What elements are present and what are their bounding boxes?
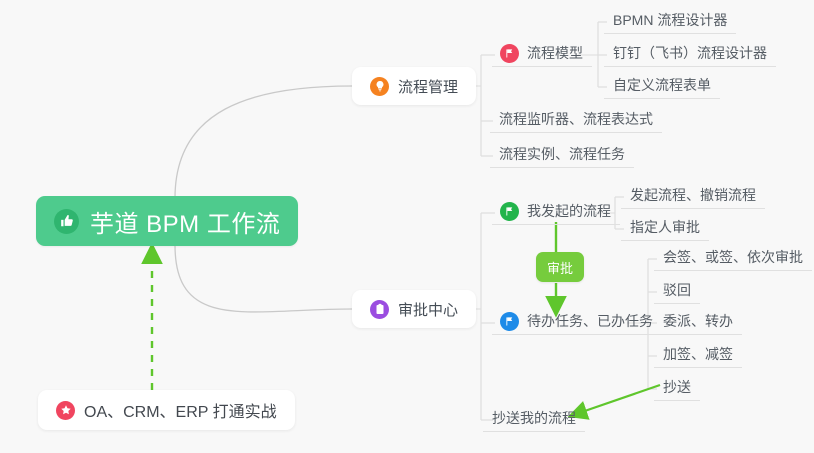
annotation-approval-chip: 审批: [536, 252, 584, 282]
root-node[interactable]: 芋道 BPM 工作流: [36, 196, 298, 246]
thumbs-up-icon: [54, 209, 79, 234]
leaf-label: 抄送: [663, 377, 691, 397]
leaf-label: 流程实例、流程任务: [499, 144, 625, 164]
footnote-node[interactable]: OA、CRM、ERP 打通实战: [38, 390, 295, 430]
leaf-label: 自定义流程表单: [613, 75, 711, 95]
leaf-start-cancel-process[interactable]: 发起流程、撤销流程: [621, 180, 765, 209]
node-my-started-process[interactable]: 我发起的流程: [492, 196, 620, 225]
branch-label: 流程管理: [398, 76, 458, 97]
leaf-label: 流程监听器、流程表达式: [499, 109, 653, 129]
leaf-label: 钉钉（飞书）流程设计器: [613, 43, 767, 63]
flag-icon: [500, 202, 519, 221]
node-process-model[interactable]: 流程模型: [492, 38, 592, 67]
leaf-label: 驳回: [663, 280, 691, 300]
star-icon: [56, 401, 75, 420]
node-label: 流程模型: [527, 43, 583, 63]
leaf-countersign[interactable]: 会签、或签、依次审批: [654, 242, 812, 271]
leaf-label: 发起流程、撤销流程: [630, 185, 756, 205]
leaf-label: BPMN 流程设计器: [613, 10, 727, 30]
branch-approval-center[interactable]: 审批中心: [352, 290, 476, 328]
node-label: 我发起的流程: [527, 201, 611, 221]
leaf-cc[interactable]: 抄送: [654, 372, 700, 401]
chip-label: 审批: [547, 258, 573, 277]
leaf-bpmn-designer[interactable]: BPMN 流程设计器: [604, 5, 736, 34]
footnote-label: OA、CRM、ERP 打通实战: [84, 398, 277, 422]
leaf-listener-expression[interactable]: 流程监听器、流程表达式: [490, 104, 662, 133]
leaf-label: 委派、转办: [663, 311, 733, 331]
leaf-delegate-transfer[interactable]: 委派、转办: [654, 306, 742, 335]
root-label: 芋道 BPM 工作流: [90, 204, 280, 239]
leaf-add-remove-sign[interactable]: 加签、减签: [654, 339, 742, 368]
clipboard-icon: [370, 300, 389, 319]
leaf-dingtalk-designer[interactable]: 钉钉（飞书）流程设计器: [604, 38, 776, 67]
leaf-label: 抄送我的流程: [492, 408, 576, 428]
leaf-cc-to-me[interactable]: 抄送我的流程: [483, 403, 585, 432]
leaf-assignee-approval[interactable]: 指定人审批: [621, 212, 709, 241]
flag-icon: [500, 312, 519, 331]
branch-label: 审批中心: [398, 299, 458, 320]
leaf-instance-task[interactable]: 流程实例、流程任务: [490, 139, 634, 168]
leaf-label: 会签、或签、依次审批: [663, 247, 803, 267]
leaf-label: 加签、减签: [663, 344, 733, 364]
flag-icon: [500, 44, 519, 63]
leaf-label: 指定人审批: [630, 217, 700, 237]
node-label: 待办任务、已办任务: [527, 311, 653, 331]
leaf-custom-form[interactable]: 自定义流程表单: [604, 70, 720, 99]
leaf-reject[interactable]: 驳回: [654, 275, 700, 304]
lightbulb-icon: [370, 77, 389, 96]
node-todo-done-task[interactable]: 待办任务、已办任务: [492, 306, 662, 335]
mindmap-canvas: 芋道 BPM 工作流 OA、CRM、ERP 打通实战 流程管理: [0, 0, 814, 453]
branch-process-management[interactable]: 流程管理: [352, 67, 476, 105]
